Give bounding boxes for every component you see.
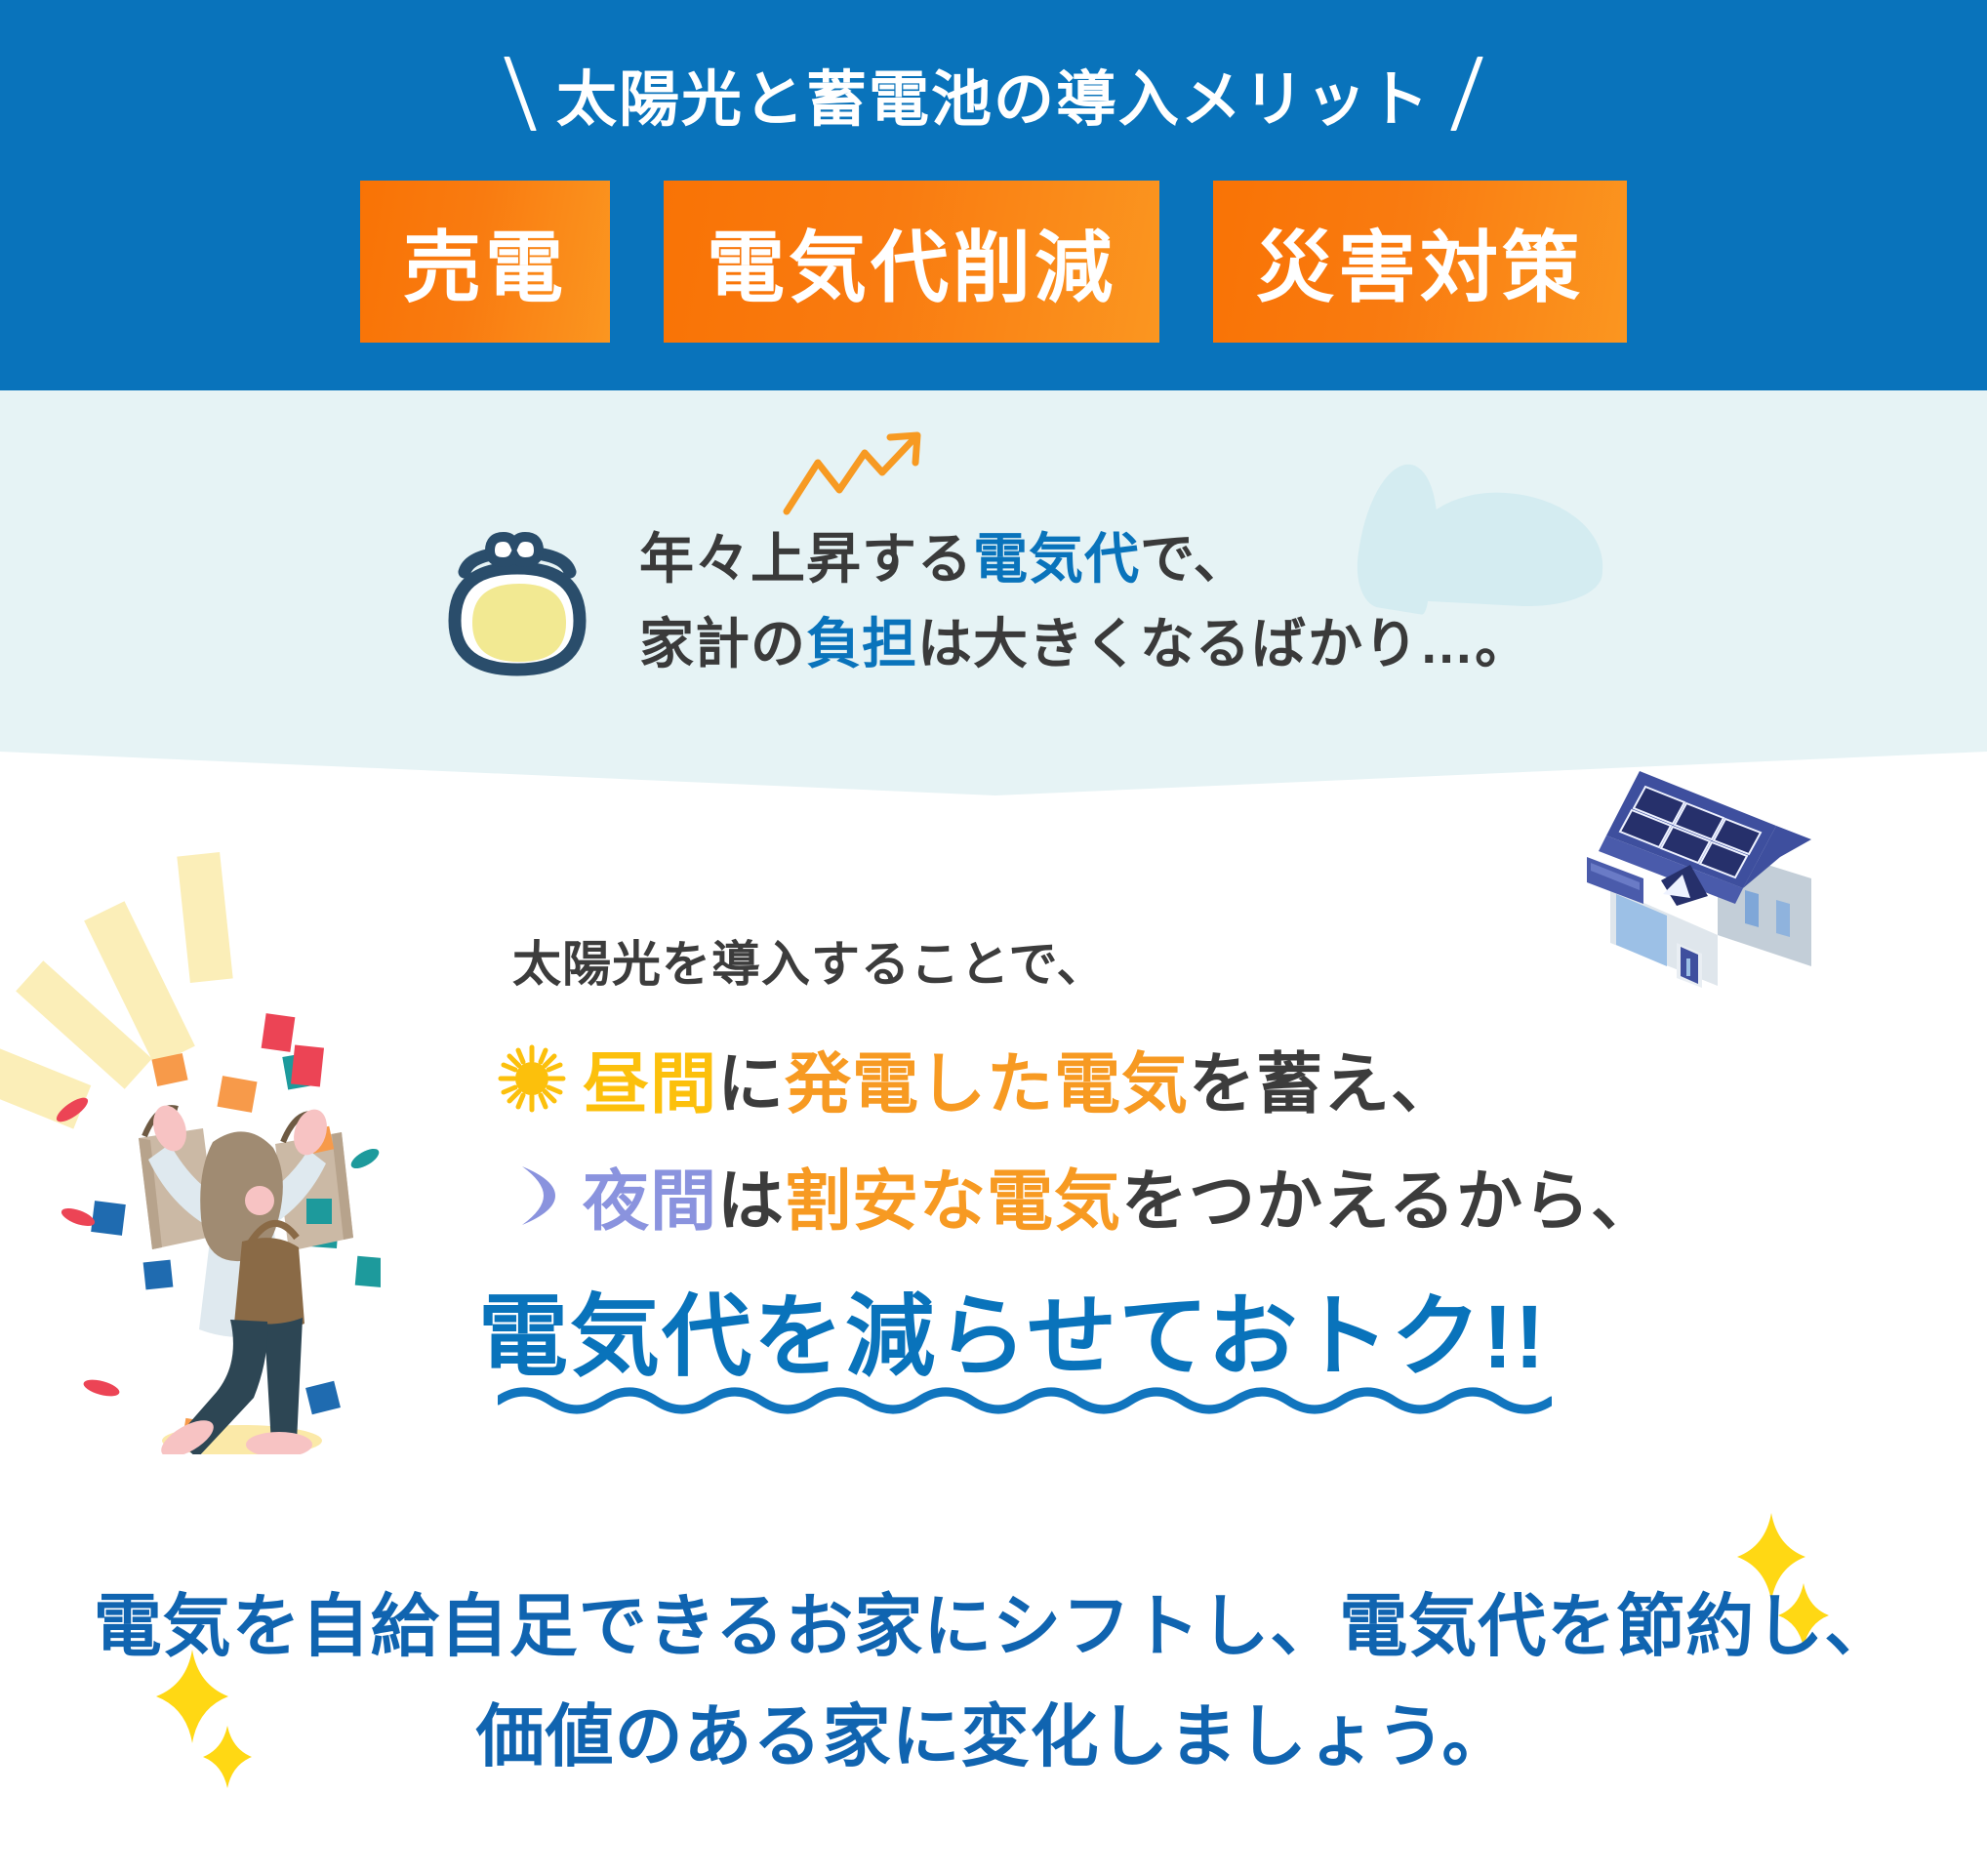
- mint-line1-highlight: 電気代: [973, 528, 1140, 590]
- sun-icon: [493, 1040, 571, 1118]
- closing-line-2: 価値のある家に変化しましょう。: [0, 1682, 1987, 1792]
- mint-line2-highlight: 負担: [806, 613, 917, 674]
- solar-panel-house-illustration: [1552, 742, 1845, 1015]
- header-banner: 太陽光と蓄電池の導入メリット 売電 電気代削減 災害対策: [0, 0, 1987, 390]
- card-daytime-line: 昼間 に 発電した電気 を蓄え、: [493, 1030, 1458, 1126]
- nighttime-plain-a: は: [717, 1147, 785, 1244]
- nighttime-label: 夜間: [583, 1147, 717, 1244]
- badge-disaster[interactable]: 災害対策: [1213, 181, 1627, 343]
- rising-arrow-icon: [781, 429, 937, 517]
- card-intro-text: 太陽光を導入することで、: [512, 925, 1107, 996]
- coin-purse-icon: [429, 508, 605, 693]
- closing-message: 電気を自給自足できるお家にシフトし、電気代を節約し、 価値のある家に変化しましょ…: [0, 1571, 1987, 1793]
- sunburst-ray: [177, 852, 232, 983]
- benefit-badge-list: 売電 電気代削減 災害対策: [0, 181, 1987, 347]
- moon-icon: [493, 1157, 571, 1235]
- badge-sell-power[interactable]: 売電: [360, 181, 610, 343]
- mint-line1-plain-b: で、: [1140, 528, 1249, 590]
- mint-band-text: 年々上昇する電気代で、 家計の負担は大きくなるばかり…。: [639, 517, 1530, 687]
- mint-line2-plain-a: 家計の: [639, 613, 806, 674]
- badge-bill-cut[interactable]: 電気代削減: [664, 181, 1159, 343]
- daytime-label: 昼間: [583, 1030, 717, 1126]
- mint-line1-plain-a: 年々上昇する: [639, 528, 973, 590]
- daytime-plain-b: を蓄え、: [1189, 1030, 1458, 1126]
- header-title-text: 太陽光と蓄電池の導入メリット: [556, 50, 1431, 138]
- happy-woman-shopping-illustration: [68, 1035, 390, 1454]
- daytime-plain-a: に: [717, 1030, 785, 1126]
- slash-right-icon: [1450, 57, 1483, 131]
- closing-line-1: 電気を自給自足できるお家にシフトし、電気代を節約し、: [0, 1571, 1987, 1682]
- page-title: 太陽光と蓄電池の導入メリット: [0, 49, 1987, 139]
- mint-band-line-2: 家計の負担は大きくなるばかり…。: [639, 602, 1530, 687]
- daytime-orange: 発電した電気: [785, 1030, 1189, 1126]
- mint-line2-plain-b: は大きくなるばかり…。: [917, 613, 1530, 674]
- nighttime-plain-b: をつかえるから、: [1121, 1147, 1658, 1244]
- card-nighttime-line: 夜間 は 割安な電気 をつかえるから、: [493, 1147, 1658, 1244]
- mint-band-line-1: 年々上昇する電気代で、: [639, 517, 1530, 602]
- slash-left-icon: [504, 57, 537, 131]
- card-headline: 電気代を減らせておトク!!: [478, 1264, 1547, 1394]
- wavy-underline: [498, 1381, 1552, 1420]
- nighttime-orange: 割安な電気: [785, 1147, 1121, 1244]
